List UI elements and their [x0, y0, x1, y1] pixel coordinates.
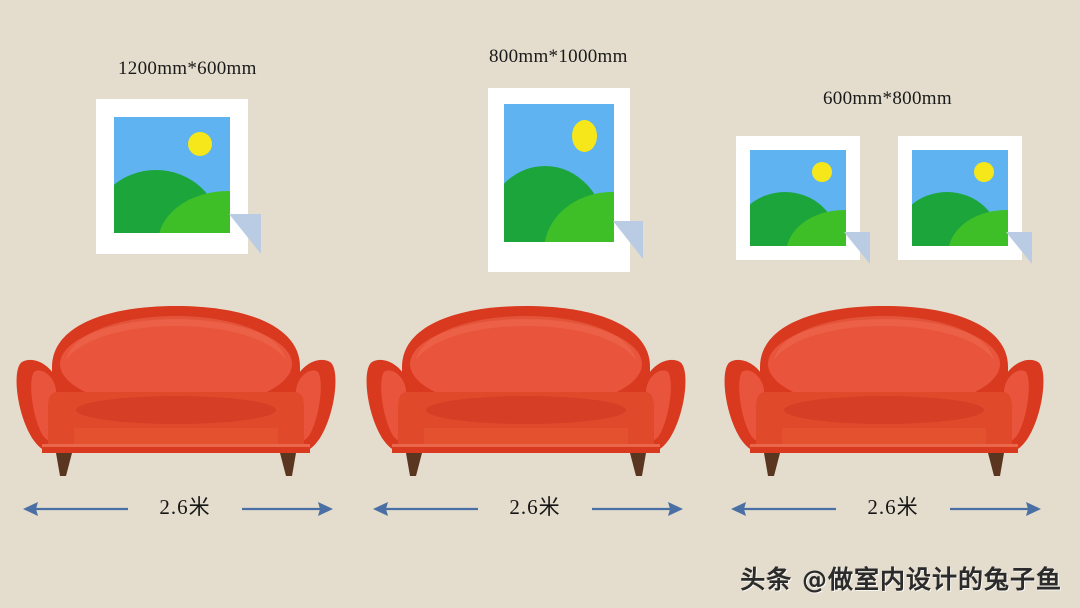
picture-frame-middle — [488, 88, 630, 272]
sun-icon — [812, 162, 832, 182]
sofa-middle — [360, 292, 692, 477]
sun-icon — [572, 120, 597, 152]
size-label-middle: 800mm*1000mm — [489, 46, 628, 68]
sofa-graphic — [360, 292, 692, 477]
sofa-graphic — [718, 292, 1050, 477]
corner-fold-shape — [1006, 232, 1032, 264]
measure-value-right: 2.6米 — [836, 492, 950, 522]
sun-icon — [974, 162, 994, 182]
illustration-canvas: 1200mm*600mm — [0, 0, 1080, 608]
sofa-graphic — [10, 292, 342, 477]
watermark-text: 头条 @做室内设计的兔子鱼 — [740, 560, 1062, 596]
picture-frame-left — [96, 99, 248, 254]
photo-artwork — [912, 150, 1008, 246]
measure-left: 2.6米 — [22, 492, 334, 526]
sofa-left — [10, 292, 342, 477]
corner-fold-shape — [229, 214, 261, 254]
photo-artwork — [504, 104, 614, 242]
sofa-right — [718, 292, 1050, 477]
picture-frame-right-b — [898, 136, 1022, 260]
measure-middle: 2.6米 — [372, 492, 684, 526]
measure-value-middle: 2.6米 — [478, 492, 592, 522]
photo-artwork — [114, 117, 230, 233]
size-label-right: 600mm*800mm — [823, 88, 952, 110]
picture-frame-right-a — [736, 136, 860, 260]
measure-right: 2.6米 — [730, 492, 1042, 526]
measure-value-left: 2.6米 — [128, 492, 242, 522]
size-label-left: 1200mm*600mm — [118, 58, 257, 80]
photo-artwork — [750, 150, 846, 246]
sun-icon — [188, 132, 212, 156]
corner-fold-shape — [613, 221, 643, 259]
corner-fold-shape — [844, 232, 870, 264]
